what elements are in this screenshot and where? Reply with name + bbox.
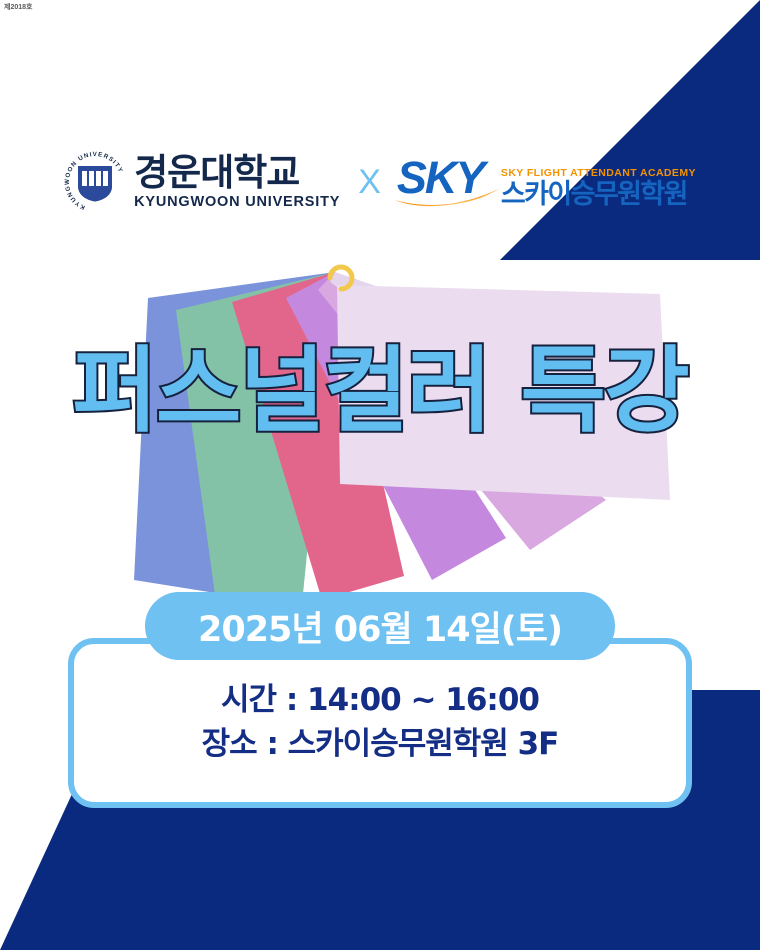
kyungwoon-name-en: KYUNGWOON UNIVERSITY — [134, 195, 340, 210]
info-line-place: 장소 : 스카이승무원학원 3F — [68, 722, 692, 766]
date-badge: 2025년 06월 14일(토) — [145, 592, 615, 660]
poster-canvas: 제2018호 KYUNGWOON UNIVERSITY — [0, 0, 760, 950]
info-line-time: 시간 : 14:00 ~ 16:00 — [68, 678, 692, 722]
info-details: 시간 : 14:00 ~ 16:00 장소 : 스카이승무원학원 3F — [68, 678, 692, 766]
sky-tagline-en: SKY FLIGHT ATTENDANT ACADEMY — [501, 168, 696, 179]
sky-name-ko: 스카이승무원학원 — [501, 181, 696, 208]
issue-number: 제2018호 — [4, 3, 32, 12]
kyungwoon-name-ko: 경운대학교 — [134, 154, 340, 191]
kyungwoon-wordmark: 경운대학교 KYUNGWOON UNIVERSITY — [134, 154, 340, 210]
page-title: 퍼스널컬러 특강 — [0, 336, 760, 446]
sky-swoosh-icon — [395, 187, 499, 209]
kyungwoon-university-logo: KYUNGWOON UNIVERSITY 경운대학교 KYUNGWOON UNI… — [64, 151, 340, 213]
sky-academy-logo: SKY SKY FLIGHT ATTENDANT ACADEMY 스카이승무원학… — [397, 153, 696, 211]
logo-separator-x: X — [358, 163, 381, 202]
sky-mark: SKY — [397, 153, 497, 211]
sky-wordmark-block: SKY FLIGHT ATTENDANT ACADEMY 스카이승무원학원 — [501, 168, 696, 212]
logo-row: KYUNGWOON UNIVERSITY 경운대학교 KYUNGWOON UNI… — [0, 142, 760, 222]
kyungwoon-emblem-icon: KYUNGWOON UNIVERSITY — [64, 151, 126, 213]
